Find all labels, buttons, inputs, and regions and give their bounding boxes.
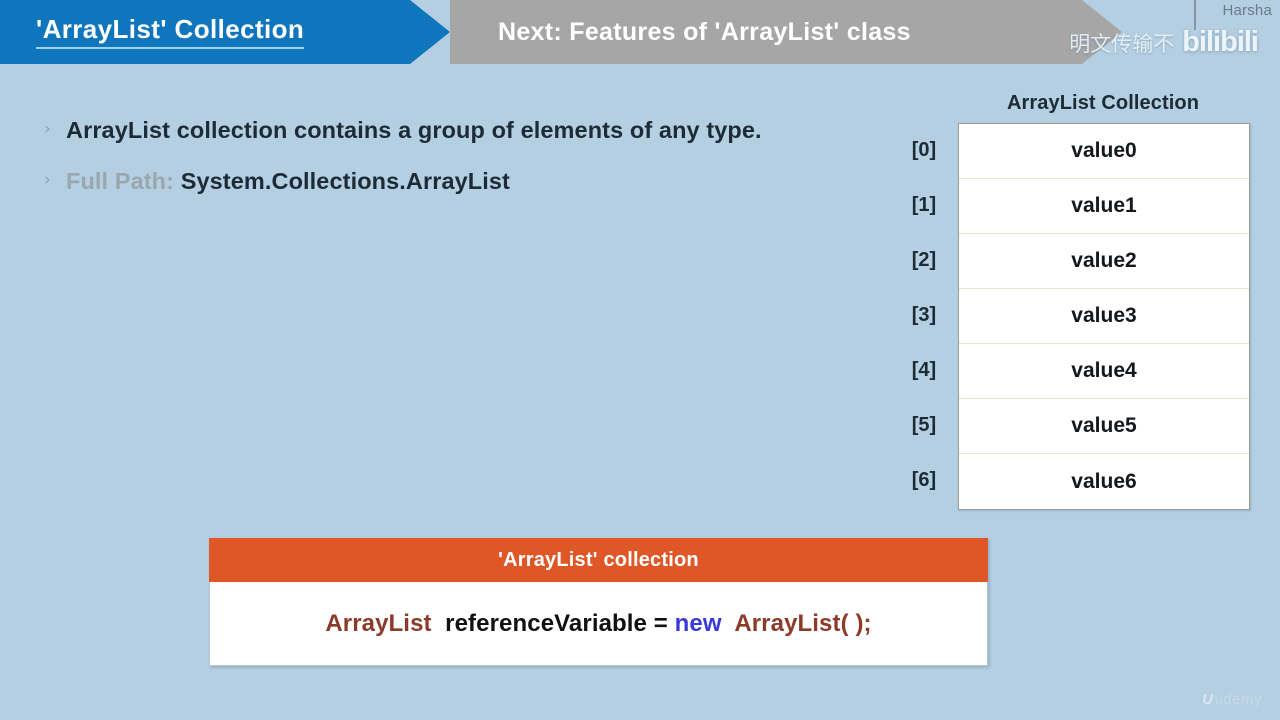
bullet-text-full-path: Full Path: System.Collections.ArrayList xyxy=(66,163,510,200)
table-row: value6 xyxy=(959,454,1249,509)
full-path-value: System.Collections.ArrayList xyxy=(181,168,510,194)
index-label: [0] xyxy=(890,123,958,178)
code-token-identifier: referenceVariable xyxy=(445,610,647,637)
banner-next-topic-label: Next: Features of 'ArrayList' class xyxy=(498,18,911,47)
table-row: value0 xyxy=(959,124,1249,179)
code-token-space xyxy=(722,610,735,637)
udemy-logo-text: udemy xyxy=(1214,691,1262,708)
list-item: › Full Path: System.Collections.ArrayLis… xyxy=(44,163,814,200)
author-divider xyxy=(1194,0,1196,30)
index-label: [6] xyxy=(890,453,958,508)
full-path-label: Full Path: xyxy=(66,168,181,194)
table-row: value4 xyxy=(959,344,1249,399)
author-watermark: Harsha xyxy=(1222,2,1272,19)
udemy-watermark: Uudemy xyxy=(1202,691,1262,708)
table-row: value1 xyxy=(959,179,1249,234)
chevron-right-icon: › xyxy=(44,112,66,142)
code-token-constructor-call: ArrayList( ); xyxy=(734,610,871,637)
syntax-box: 'ArrayList' collection ArrayList referen… xyxy=(209,538,988,666)
index-label: [5] xyxy=(890,398,958,453)
code-token-assignment-operator: = xyxy=(647,610,675,637)
index-label: [3] xyxy=(890,288,958,343)
arraylist-diagram: ArrayList Collection [0] [1] [2] [3] [4]… xyxy=(890,92,1250,510)
banner-current-topic: 'ArrayList' Collection xyxy=(0,0,450,64)
syntax-box-body: ArrayList referenceVariable = new ArrayL… xyxy=(209,582,988,666)
code-token-type-arraylist: ArrayList xyxy=(325,610,431,637)
table-row: value3 xyxy=(959,289,1249,344)
arraylist-diagram-body: [0] [1] [2] [3] [4] [5] [6] value0 value… xyxy=(890,123,1250,510)
index-label: [1] xyxy=(890,178,958,233)
banner-current-topic-label: 'ArrayList' Collection xyxy=(36,15,304,49)
arraylist-diagram-title: ArrayList Collection xyxy=(890,92,1250,115)
code-token-space xyxy=(432,610,446,637)
table-row: value5 xyxy=(959,399,1249,454)
code-token-keyword-new: new xyxy=(675,610,722,637)
banner-next-topic: Next: Features of 'ArrayList' class xyxy=(450,0,1122,64)
slide-header-bar: 'ArrayList' Collection Next: Features of… xyxy=(0,0,1280,64)
table-row: value2 xyxy=(959,234,1249,289)
index-label: [4] xyxy=(890,343,958,398)
chevron-right-icon: › xyxy=(44,163,66,193)
udemy-logo-mark: U xyxy=(1202,691,1213,708)
syntax-code-line: ArrayList referenceVariable = new ArrayL… xyxy=(325,610,871,638)
bullet-text-description: ArrayList collection contains a group of… xyxy=(66,112,762,149)
bullet-list: › ArrayList collection contains a group … xyxy=(44,112,814,214)
arraylist-index-column: [0] [1] [2] [3] [4] [5] [6] xyxy=(890,123,958,510)
index-label: [2] xyxy=(890,233,958,288)
arraylist-value-table: value0 value1 value2 value3 value4 value… xyxy=(958,123,1250,510)
syntax-box-header: 'ArrayList' collection xyxy=(209,538,988,582)
list-item: › ArrayList collection contains a group … xyxy=(44,112,814,149)
